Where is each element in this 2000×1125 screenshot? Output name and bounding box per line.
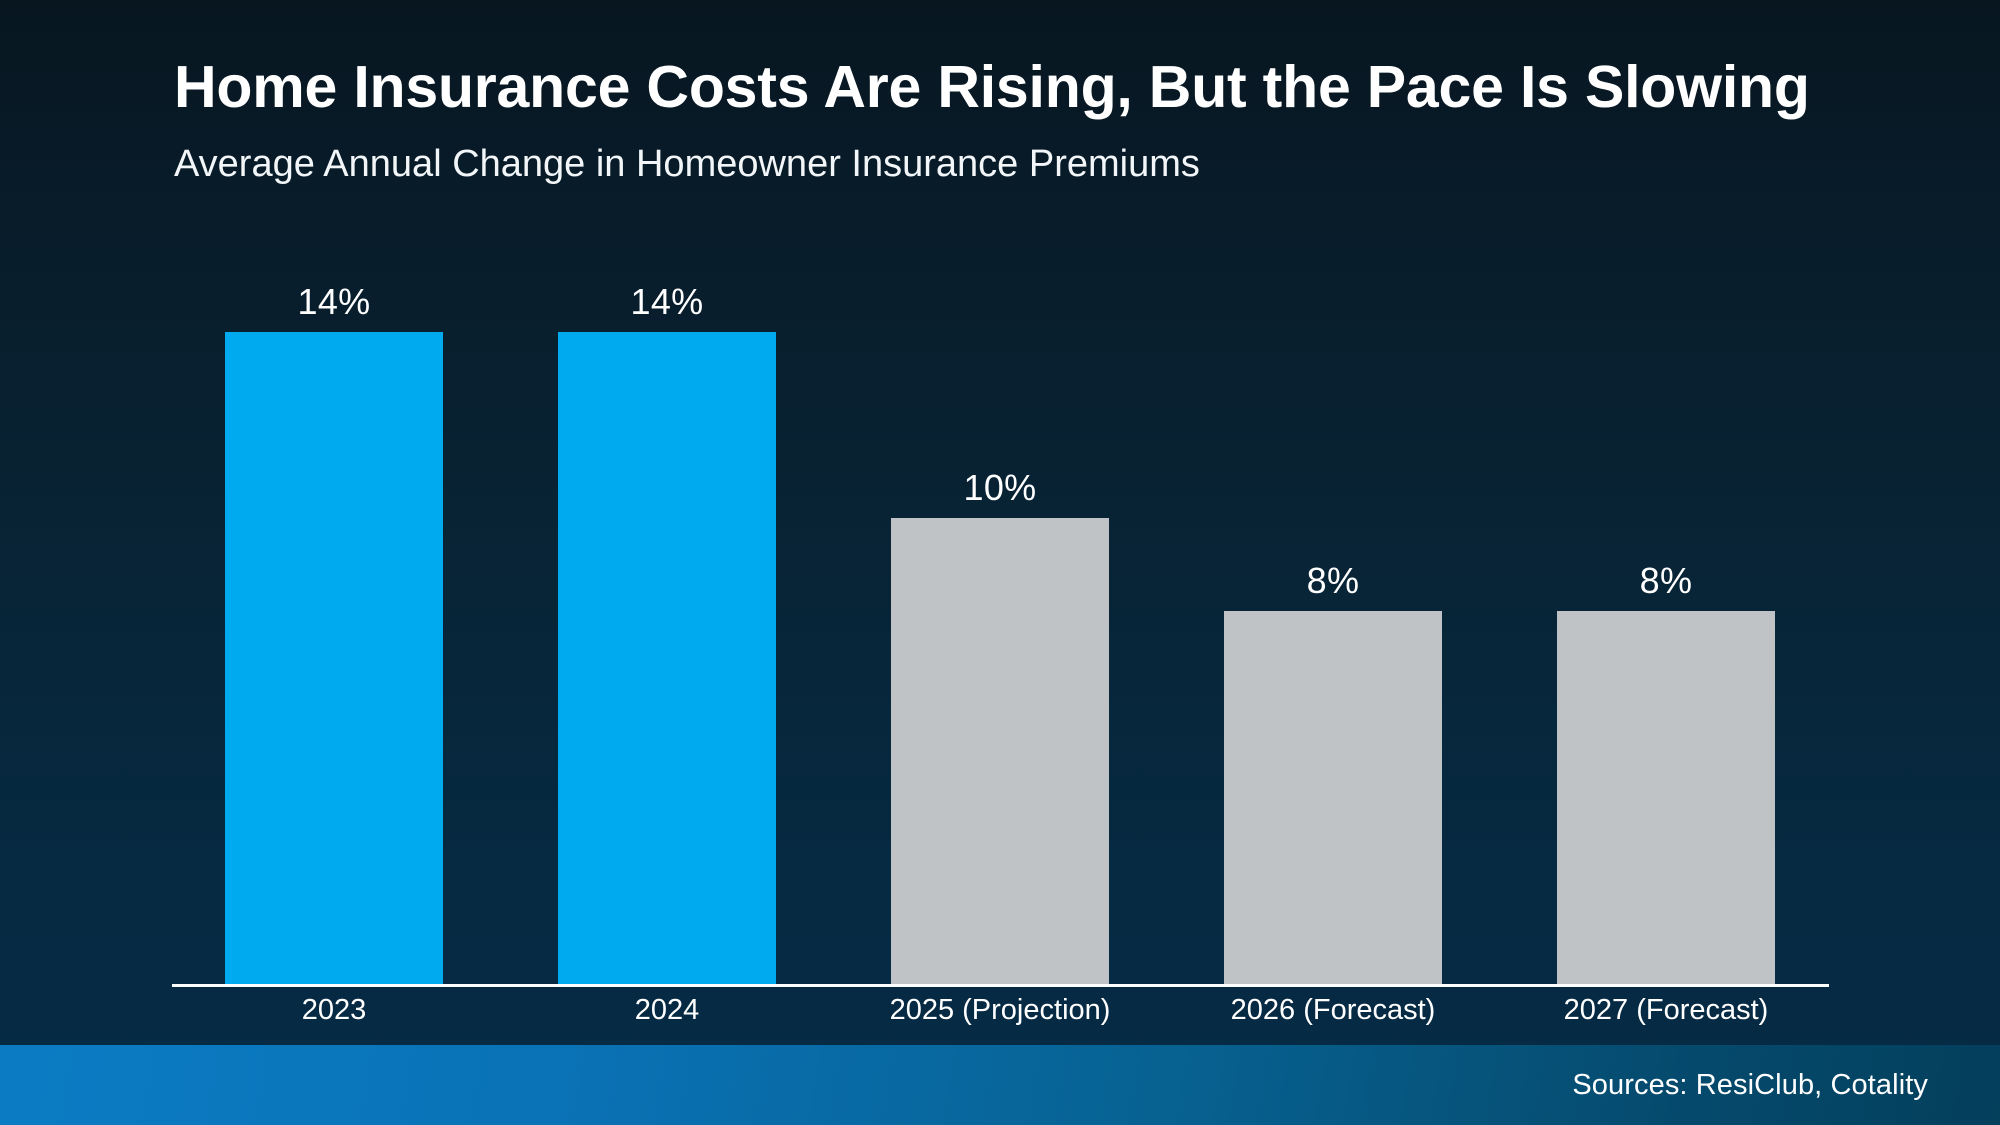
bar-column[interactable]: 14% xyxy=(175,262,493,984)
x-axis-tick-label: 2025 (Projection) xyxy=(841,994,1159,1027)
bar-value-label: 14% xyxy=(298,281,371,323)
x-axis-line xyxy=(172,984,1829,987)
bar-column[interactable]: 8% xyxy=(1174,262,1492,984)
bar-rect[interactable] xyxy=(558,332,776,984)
bar-value-label: 8% xyxy=(1640,560,1693,602)
x-axis-labels: 202320242025 (Projection)2026 (Forecast)… xyxy=(172,994,1828,1027)
x-axis-tick-label: 2027 (Forecast) xyxy=(1507,994,1825,1027)
bar-rect[interactable] xyxy=(225,332,443,984)
x-axis-tick-label: 2023 xyxy=(175,994,493,1027)
page-title: Home Insurance Costs Are Rising, But the… xyxy=(174,56,1894,119)
x-axis-tick-label: 2024 xyxy=(508,994,826,1027)
chart-subtitle: Average Annual Change in Homeowner Insur… xyxy=(174,144,1894,186)
bar-value-label: 14% xyxy=(631,281,704,323)
sources-text: Sources: ResiClub, Cotality xyxy=(1572,1069,1928,1102)
bar-column[interactable]: 14% xyxy=(508,262,826,984)
bar-value-label: 8% xyxy=(1307,560,1360,602)
bar-rect[interactable] xyxy=(891,518,1109,984)
footer-bar: Sources: ResiClub, Cotality xyxy=(0,1045,2000,1125)
bar-column[interactable]: 10% xyxy=(841,262,1159,984)
bar-value-label: 10% xyxy=(964,467,1037,509)
plot-area: 14%14%10%8%8% xyxy=(172,262,1828,984)
bar-column[interactable]: 8% xyxy=(1507,262,1825,984)
bar-rect[interactable] xyxy=(1557,611,1775,984)
chart-header: Home Insurance Costs Are Rising, But the… xyxy=(174,56,1894,185)
chart-canvas: Home Insurance Costs Are Rising, But the… xyxy=(0,0,2000,1125)
x-axis-tick-label: 2026 (Forecast) xyxy=(1174,994,1492,1027)
bar-group: 14%14%10%8%8% xyxy=(172,262,1828,984)
bar-rect[interactable] xyxy=(1224,611,1442,984)
